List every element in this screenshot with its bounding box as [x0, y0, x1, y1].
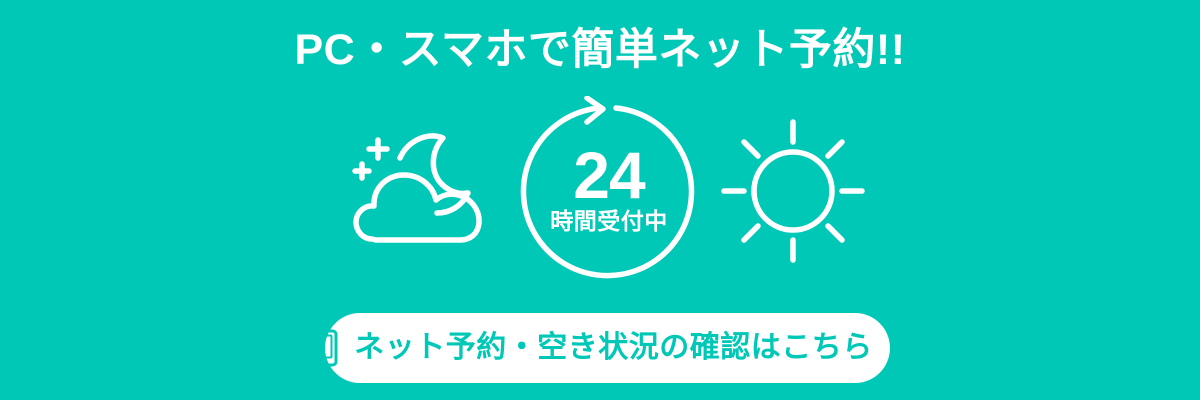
sun-icon	[718, 96, 868, 286]
play-triangle-icon	[887, 338, 903, 358]
reservation-cta-button[interactable]: ネット予約・空き状況の確認はこちら	[325, 313, 890, 383]
cta-label: ネット予約・空き状況の確認はこちら	[354, 330, 873, 366]
smartphone-icon	[312, 329, 338, 367]
moon-cloud-icon	[340, 96, 500, 286]
icon-row	[0, 96, 1200, 286]
circular-arrow-icon	[513, 96, 705, 286]
page-title: PC・スマホで簡単ネット予約!!	[0, 24, 1200, 76]
promo-banner: PC・スマホで簡単ネット予約!!	[0, 0, 1200, 400]
